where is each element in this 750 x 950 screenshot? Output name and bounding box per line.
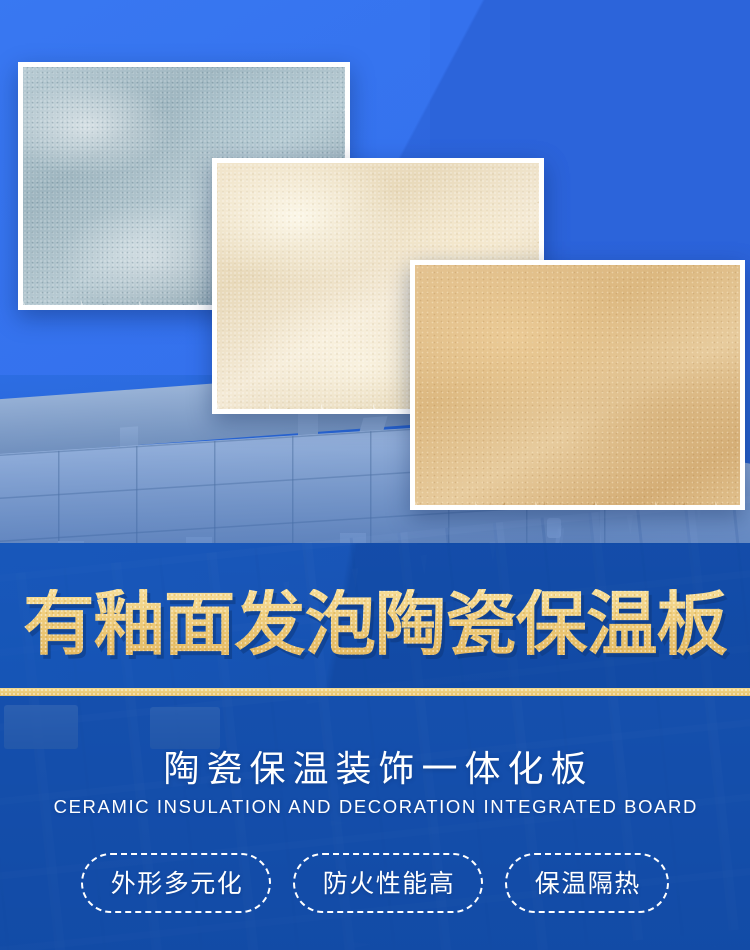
headline-text: 有釉面发泡陶瓷保温板 (23, 589, 727, 659)
feature-pill-thermal-insulation[interactable]: 保温隔热 (505, 853, 669, 913)
tile-texture (415, 265, 740, 505)
feature-pill-list: 外形多元化 防火性能高 保温隔热 (0, 853, 750, 913)
feature-pill-fire-resistance[interactable]: 防火性能高 (293, 853, 483, 913)
product-poster: 有釉面发泡陶瓷保温板 陶瓷保温装饰一体化板 CERAMIC INSULATION… (0, 0, 750, 950)
subtitle-chinese: 陶瓷保温装饰一体化板 (0, 740, 750, 792)
gold-divider (0, 688, 750, 696)
subtitle-english: CERAMIC INSULATION AND DECORATION INTEGR… (0, 796, 750, 818)
headline-container: 有釉面发泡陶瓷保温板 (0, 578, 750, 670)
feature-pill-shape-variety[interactable]: 外形多元化 (81, 853, 271, 913)
tile-sample-tan-marble[interactable] (410, 260, 745, 510)
